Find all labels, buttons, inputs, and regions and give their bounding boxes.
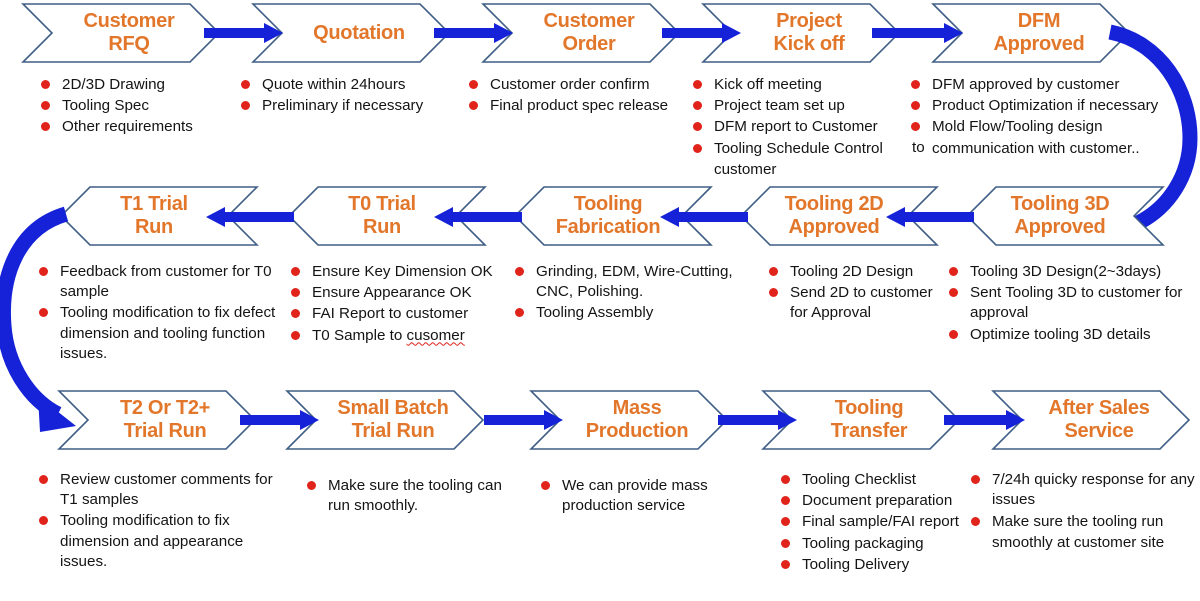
bullet-icon: [469, 80, 478, 89]
bullets-t0-trial-run: Ensure Key Dimension OK Ensure Appearanc…: [290, 262, 520, 347]
stage-customer-rfq[interactable]: Customer RFQ: [22, 3, 220, 63]
bullet-icon: [291, 288, 300, 297]
list-item: Optimize tooling 3D details: [948, 325, 1198, 345]
bullet-icon: [781, 560, 790, 569]
bullets-small-batch-trial-run: Make sure the tooling can run smoothly.: [306, 476, 506, 517]
connector-arrow-left: [434, 206, 522, 228]
list-item: Sent Tooling 3D to customer for approval: [948, 283, 1198, 323]
bullets-customer-order: Customer order confirm Final product spe…: [468, 75, 708, 117]
list-item: Grinding, EDM, Wire-Cutting, CNC, Polish…: [514, 262, 766, 302]
list-item: Final product spec release: [468, 96, 708, 116]
bullet-icon: [307, 481, 316, 490]
list-item: Kick off meeting: [692, 75, 922, 95]
list-item: Make sure the tooling run smoothly at cu…: [970, 512, 1200, 552]
bullet-icon: [39, 475, 48, 484]
list-item: DFM report to Customer: [692, 117, 922, 137]
bullet-icon: [949, 330, 958, 339]
list-item: We can provide mass production service: [540, 476, 730, 516]
list-item: FAI Report to customer: [290, 304, 520, 324]
bullet-icon: [515, 308, 524, 317]
bullets-customer-rfq: 2D/3D Drawing Tooling Spec Other require…: [40, 75, 240, 139]
bullets-t2-or-t2plus-trial-run: Review customer comments for T1 samples …: [38, 470, 286, 573]
connector-arrow-right: [240, 409, 320, 431]
bullets-tooling-2d-approved: Tooling 2D Design Send 2D to customer fo…: [768, 262, 950, 325]
connector-arrow-left: [660, 206, 748, 228]
list-item: Review customer comments for T1 samples: [38, 470, 286, 510]
bullet-icon: [291, 331, 300, 340]
list-item: Document preparation: [780, 491, 995, 511]
bullet-icon: [291, 267, 300, 276]
bullet-icon: [469, 101, 478, 110]
bullet-icon: [769, 288, 778, 297]
connector-arrow-right: [944, 409, 1026, 431]
bullet-icon: [769, 267, 778, 276]
bullet-icon: [971, 517, 980, 526]
bullets-tooling-3d-approved: Tooling 3D Design(2~3days) Sent Tooling …: [948, 262, 1198, 346]
bullet-icon: [911, 80, 920, 89]
list-item: Ensure Key Dimension OK: [290, 262, 520, 282]
list-item: Project team set up: [692, 96, 922, 116]
bullets-after-sales-service: 7/24h quicky response for any issues Mak…: [970, 470, 1200, 554]
list-item: Final sample/FAI report: [780, 512, 995, 532]
bullet-icon: [41, 122, 50, 131]
list-item: Tooling 2D Design: [768, 262, 950, 282]
connector-arrow-right: [718, 409, 798, 431]
bullet-icon: [911, 101, 920, 110]
connector-arrow-right: [872, 22, 964, 44]
list-item: Tooling 3D Design(2~3days): [948, 262, 1198, 282]
connector-arrow-right: [204, 22, 284, 44]
list-item: 7/24h quicky response for any issues: [970, 470, 1200, 510]
bullet-icon: [241, 80, 250, 89]
bullet-icon: [781, 517, 790, 526]
list-item: Tooling Assembly: [514, 303, 766, 323]
bullet-icon: [541, 481, 550, 490]
list-item: Tooling packaging: [780, 534, 995, 554]
list-item: 2D/3D Drawing: [40, 75, 240, 95]
bullet-icon: [39, 516, 48, 525]
bullet-icon: [291, 309, 300, 318]
bullet-icon: [971, 475, 980, 484]
bullet-icon: [781, 539, 790, 548]
list-item: Tooling Spec: [40, 96, 240, 116]
list-item: Tooling modification to fix dimension an…: [38, 511, 286, 572]
bullet-icon: [911, 122, 920, 131]
bullet-icon: [949, 288, 958, 297]
list-item: Customer order confirm: [468, 75, 708, 95]
bullets-project-kick-off: Kick off meeting Project team set up DFM…: [692, 75, 922, 181]
list-item: Tooling Checklist: [780, 470, 995, 490]
list-item: Quote within 24hours: [240, 75, 470, 95]
connector-arrow-left: [886, 206, 974, 228]
bullet-icon: [693, 101, 702, 110]
bullets-quotation: Quote within 24hours Preliminary if nece…: [240, 75, 470, 117]
list-item: Other requirements: [40, 117, 240, 137]
bullet-icon: [241, 101, 250, 110]
stage-t2-or-t2plus-trial-run[interactable]: T2 Or T2+ Trial Run: [58, 390, 256, 450]
connector-arrow-left: [206, 206, 294, 228]
bullet-icon: [515, 267, 524, 276]
bullet-icon: [781, 496, 790, 505]
list-item: Send 2D to customer for Approval: [768, 283, 950, 323]
connector-arrow-right: [484, 409, 564, 431]
bullets-mass-production: We can provide mass production service: [540, 476, 730, 517]
connector-arrow-right: [434, 22, 514, 44]
list-item: Ensure Appearance OK: [290, 283, 520, 303]
connector-arrow-right: [662, 22, 742, 44]
list-item: Tooling Delivery: [780, 555, 995, 575]
list-item: Make sure the tooling can run smoothly.: [306, 476, 506, 516]
process-flow-diagram: Customer RFQ Quotation Customer Order Pr…: [0, 0, 1200, 601]
bullet-icon: [693, 80, 702, 89]
bullet-icon: [41, 80, 50, 89]
bullet-icon: [781, 475, 790, 484]
stage-tooling-3d-approved[interactable]: Tooling 3D Approved: [966, 186, 1164, 246]
bullet-icon: [693, 144, 702, 153]
bullet-icon: [693, 122, 702, 131]
list-item: T0 Sample to cusomer: [290, 326, 520, 346]
bullets-tooling-transfer: Tooling Checklist Document preparation F…: [780, 470, 995, 576]
bullet-icon: [41, 101, 50, 110]
list-item: Preliminary if necessary: [240, 96, 470, 116]
list-item: Tooling Schedule Control: [692, 139, 922, 159]
bullet-icon: [949, 267, 958, 276]
misspelled-word: cusomer: [407, 327, 465, 344]
bullets-tooling-fabrication: Grinding, EDM, Wire-Cutting, CNC, Polish…: [514, 262, 766, 325]
list-item-continuation: customer: [692, 160, 922, 180]
